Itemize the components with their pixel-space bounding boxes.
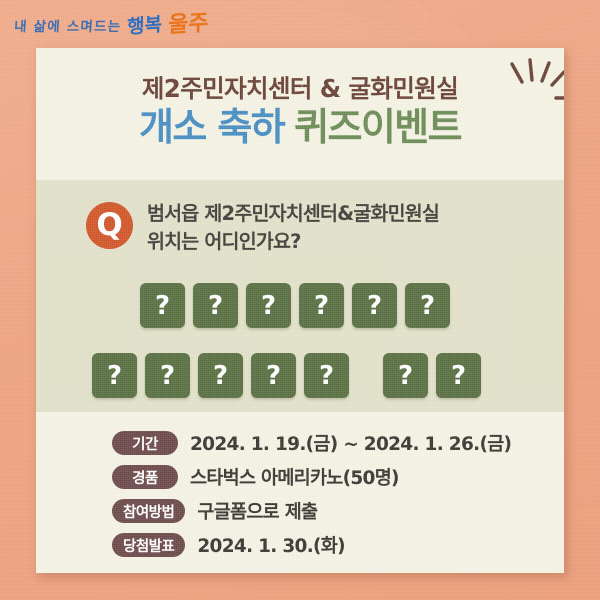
detail-label-how-to-join: 참여방법 (112, 499, 185, 523)
brand-happy-word: 행복 (127, 15, 162, 37)
detail-label-prize: 경품 (112, 465, 178, 489)
answer-tile[interactable]: ? (405, 283, 450, 328)
detail-row-announcement: 당첨발표 2024. 1. 30.(화) (36, 528, 564, 562)
brand-logo: 내 삶에 스며드는 행복 울주 (14, 14, 209, 36)
title-heading-part2: 퀴즈이벤트 (294, 105, 461, 149)
answer-tile[interactable]: ? (436, 353, 481, 398)
answer-tile[interactable]: ? (383, 353, 428, 398)
detail-value-prize: 스타벅스 아메리카노(50명) (190, 464, 399, 490)
detail-value-period: 2024. 1. 19.(금) ~ 2024. 1. 26.(금) (190, 430, 511, 456)
detail-label-announcement: 당첨발표 (112, 533, 185, 557)
answer-tile[interactable]: ? (246, 283, 291, 328)
answer-tile[interactable]: ? (140, 283, 185, 328)
detail-value-announcement: 2024. 1. 30.(화) (197, 532, 345, 558)
question-badge: Q (86, 202, 133, 249)
answer-tile-row-2: ? ? ? ? ? ? ? (92, 353, 481, 398)
answer-tile[interactable]: ? (251, 353, 296, 398)
title-heading-part1: 개소 축하 (139, 105, 284, 149)
title-heading: 개소 축하퀴즈이벤트 (36, 108, 564, 148)
answer-tile[interactable]: ? (92, 353, 137, 398)
detail-row-prize: 경품 스타벅스 아메리카노(50명) (36, 460, 564, 494)
answer-tile[interactable]: ? (299, 283, 344, 328)
detail-row-how-to-join: 참여방법 구글폼으로 제출 (36, 494, 564, 528)
answer-tile[interactable]: ? (304, 353, 349, 398)
sparkle-burst-icon (504, 58, 564, 112)
answer-tile[interactable]: ? (145, 353, 190, 398)
answer-tile-row-1: ? ? ? ? ? ? (140, 283, 450, 328)
detail-row-period: 기간 2024. 1. 19.(금) ~ 2024. 1. 26.(금) (36, 426, 564, 460)
brand-slogan: 내 삶에 스며드는 (13, 21, 121, 37)
answer-tile[interactable]: ? (352, 283, 397, 328)
detail-value-how-to-join: 구글폼으로 제출 (197, 498, 317, 524)
title-block: 제2주민자치센터 & 굴화민원실 개소 축하퀴즈이벤트 (36, 76, 564, 148)
event-details: 기간 2024. 1. 19.(금) ~ 2024. 1. 26.(금) 경품 … (36, 426, 564, 562)
poster-card: 제2주민자치센터 & 굴화민원실 개소 축하퀴즈이벤트 Q 범서읍 제2주민자치… (36, 48, 564, 573)
question-line-2: 위치는 어디인가요? (147, 228, 439, 256)
detail-label-period: 기간 (112, 431, 178, 455)
question-line-1: 범서읍 제2주민자치센터&굴화민원실 (147, 200, 439, 228)
answer-tile[interactable]: ? (198, 353, 243, 398)
title-subheading: 제2주민자치센터 & 굴화민원실 (142, 76, 458, 103)
question-block: Q 범서읍 제2주민자치센터&굴화민원실 위치는 어디인가요? (86, 200, 439, 255)
question-text: 범서읍 제2주민자치센터&굴화민원실 위치는 어디인가요? (147, 200, 439, 255)
answer-tile[interactable]: ? (193, 283, 238, 328)
brand-region-word: 울주 (168, 13, 209, 37)
